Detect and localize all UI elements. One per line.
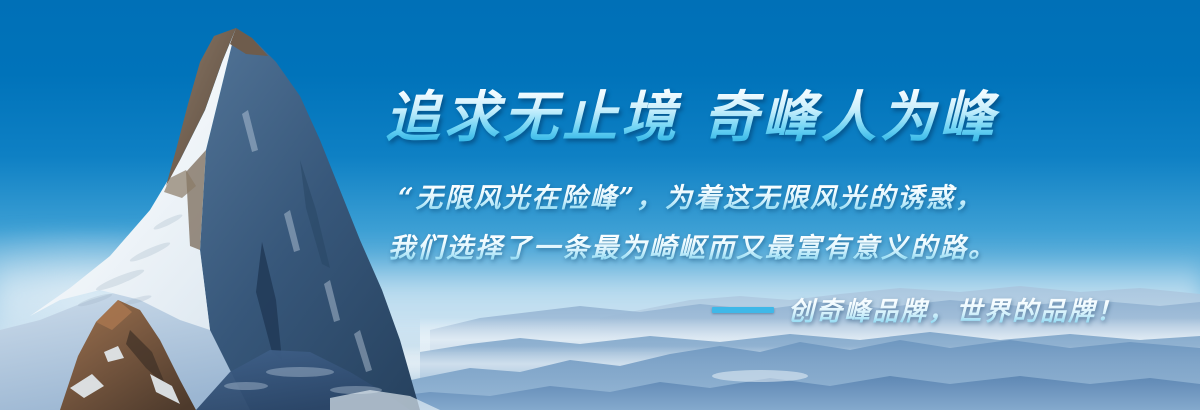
banner-subtitle-line-1: “无限风光在险峰”，为着这无限风光的诱惑， [398,176,984,215]
em-dash-icon [712,307,774,313]
matterhorn-peak [0,0,460,410]
hero-banner: 追求无止境 奇峰人为峰 “无限风光在险峰”，为着这无限风光的诱惑， 我们选择了一… [0,0,1200,410]
banner-subtitle-line-2: 我们选择了一条最为崎岖而又最富有意义的路。 [388,226,997,265]
banner-headline: 追求无止境 奇峰人为峰 [385,72,1010,152]
banner-attribution: 创奇峰品牌，世界的品牌！ [712,291,1124,328]
banner-attribution-text: 创奇峰品牌，世界的品牌！ [788,291,1124,328]
